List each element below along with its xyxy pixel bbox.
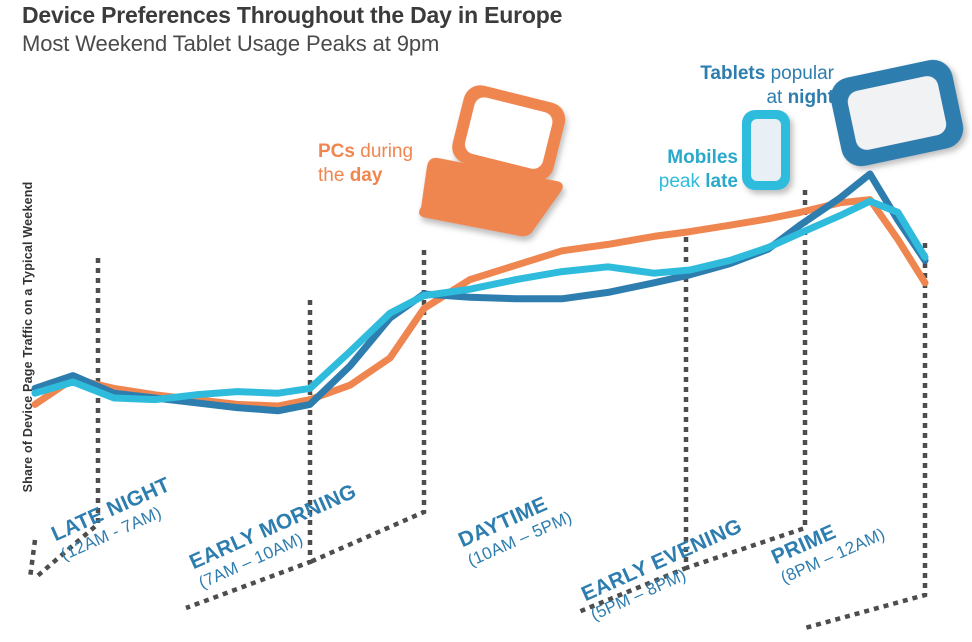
callout-mobiles-line1: Mobiles <box>643 146 738 170</box>
chart-canvas: Device Preferences Throughout the Day in… <box>0 0 972 642</box>
callout-pcs-line2: the day <box>318 164 413 188</box>
smartphone-icon <box>742 110 790 190</box>
callout-pcs-line1: PCs during <box>318 140 413 164</box>
tablet-icon <box>827 56 967 170</box>
callout-tablets-line2: at night <box>668 86 834 110</box>
callout-tablets: Tablets popular at night <box>668 62 834 111</box>
callout-mobiles: Mobiles peak late <box>643 146 738 195</box>
callout-mobiles-line2: peak late <box>643 170 738 194</box>
callout-pcs: PCs during the day <box>318 140 413 189</box>
callout-tablets-line1: Tablets popular <box>668 62 834 86</box>
laptop-icon <box>414 77 585 249</box>
